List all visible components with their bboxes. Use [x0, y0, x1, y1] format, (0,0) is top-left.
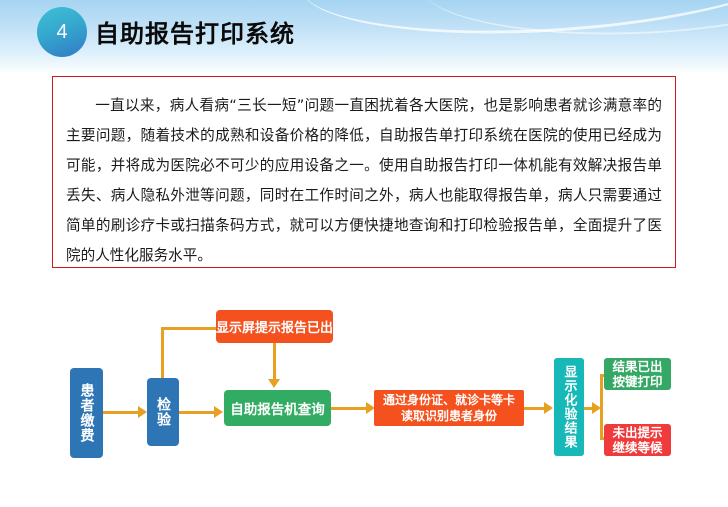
flow-node-self-service-kiosk[interactable]: 自助报告机查询	[224, 390, 331, 426]
flow-node-examination[interactable]: 检验	[147, 378, 179, 446]
arrowhead-identify-to-show	[544, 402, 553, 414]
identity-line-2: 读取识别患者身份	[401, 408, 497, 424]
arrowhead-test-to-kiosk	[214, 406, 223, 418]
page-title: 自助报告打印系统	[95, 14, 295, 49]
flow-node-result-pending-wait[interactable]: 未出提示 继续等候	[604, 424, 671, 456]
connector-kiosk-to-identify	[331, 407, 367, 410]
flow-node-identity-verification[interactable]: 通过身份证、就诊卡等卡 读取识别患者身份	[374, 390, 524, 426]
arrowhead-pay-to-test	[138, 406, 147, 418]
connector-split-vertical	[600, 374, 603, 440]
wait-line-2: 继续等候	[612, 440, 662, 455]
flow-node-screen-notice[interactable]: 显示屏提示报告已出	[216, 310, 333, 343]
arrowhead-screen-to-kiosk	[268, 379, 280, 388]
connector-pay-to-test	[103, 411, 139, 414]
ready-line-2: 按键打印	[612, 374, 662, 389]
description-paragraph: 一直以来，病人看病“三长一短”问题一直困扰着各大医院，也是影响患者就诊满意率的主…	[53, 77, 675, 271]
description-box: 一直以来，病人看病“三长一短”问题一直困扰着各大医院，也是影响患者就诊满意率的主…	[52, 76, 676, 268]
process-flowchart: 患者缴费 检验 显示屏提示报告已出 自助报告机查询 通过身份证、就诊卡等卡 读取…	[0, 290, 728, 507]
connector-test-up-horizontal	[161, 327, 218, 330]
connector-identify-to-show	[524, 407, 546, 410]
identity-line-1: 通过身份证、就诊卡等卡	[383, 392, 515, 408]
flow-node-show-lab-result[interactable]: 显示化验结果	[554, 358, 584, 456]
connector-test-up-vertical	[161, 327, 164, 380]
wait-line-1: 未出提示	[612, 425, 662, 440]
section-number-badge: 4	[37, 7, 87, 57]
flow-node-result-ready-print[interactable]: 结果已出 按键打印	[604, 358, 671, 390]
ready-line-1: 结果已出	[612, 359, 662, 374]
flow-node-patient-payment[interactable]: 患者缴费	[70, 368, 103, 458]
connector-screen-to-kiosk	[273, 343, 276, 381]
connector-test-to-kiosk	[179, 411, 215, 414]
